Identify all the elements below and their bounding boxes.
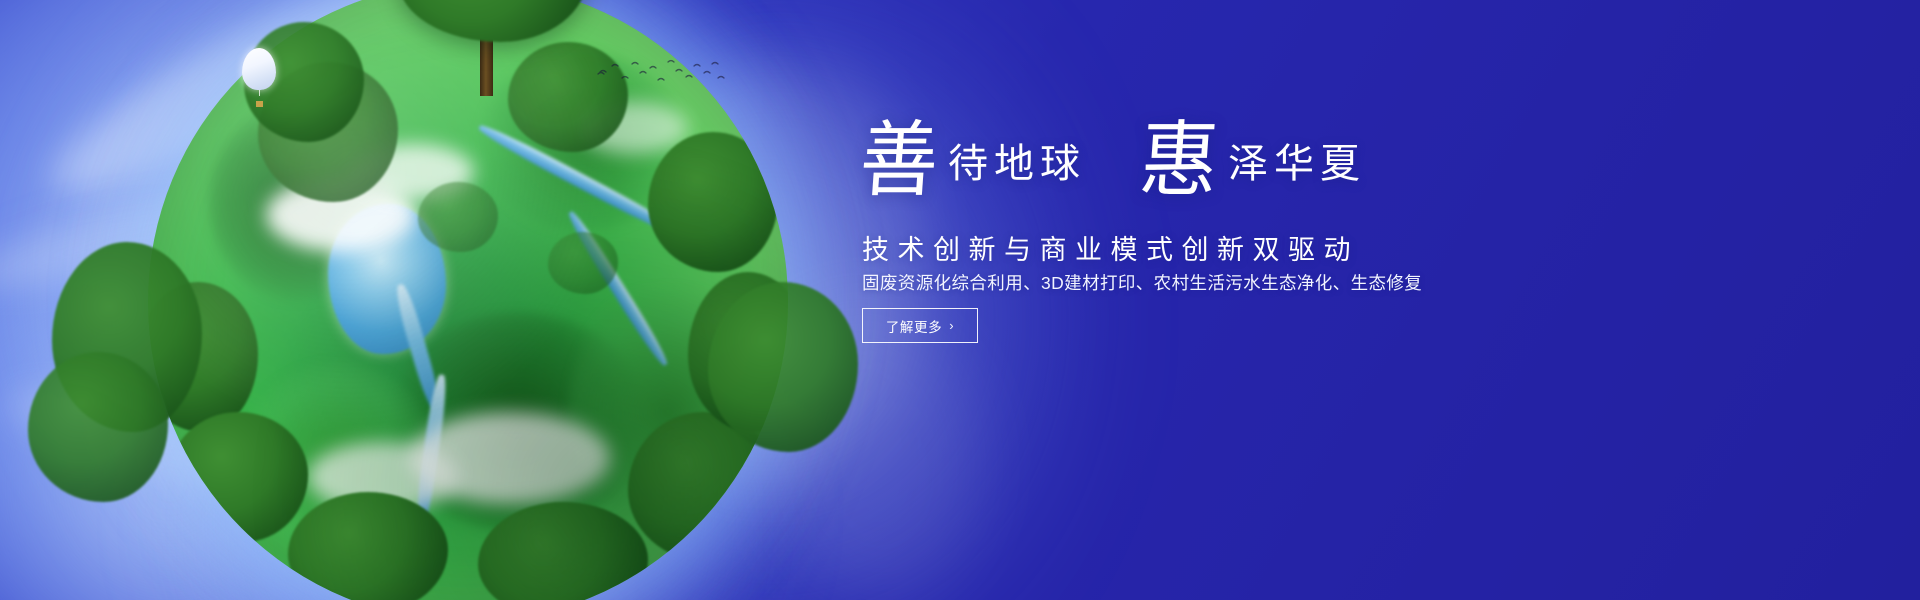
headline: 善 待地球 惠 泽华夏 (860, 126, 1366, 196)
chevron-right-icon: › (949, 319, 954, 332)
headline-part1-big: 善 (857, 124, 940, 198)
headline-part2-small: 泽华夏 (1218, 144, 1366, 196)
cloud-patch-icon (354, 144, 474, 200)
cloud-patch-icon (410, 412, 610, 504)
river-feature (392, 282, 443, 411)
subtitle: 技术创新与商业模式创新双驱动 (862, 228, 1359, 267)
learn-more-label: 了解更多 (886, 316, 942, 336)
cloud-patch-icon (266, 178, 416, 252)
tree-canopy (28, 352, 168, 502)
river-feature (476, 121, 686, 241)
river-feature (565, 209, 671, 369)
river-feature (414, 374, 450, 525)
hero-content: 善 待地球 惠 泽华夏 技术创新与商业模式创新双驱动 固废资源化综合利用、3D建… (860, 0, 1860, 600)
headline-part2-big: 惠 (1137, 124, 1220, 198)
hero-banner: 善 待地球 惠 泽华夏 技术创新与商业模式创新双驱动 固废资源化综合利用、3D建… (0, 0, 1920, 600)
headline-part1-small: 待地球 (938, 144, 1086, 196)
cloud-patch-icon (578, 102, 688, 154)
cloud-patch-icon (308, 442, 458, 512)
detail-text: 固废资源化综合利用、3D建材打印、农村生活污水生态净化、生态修复 (862, 270, 1422, 295)
learn-more-button[interactable]: 了解更多 › (862, 308, 978, 343)
tree-canopy (708, 282, 858, 452)
lake-feature (328, 204, 446, 354)
flock-of-birds-icon (596, 56, 726, 96)
hot-air-balloon-icon (242, 48, 276, 107)
